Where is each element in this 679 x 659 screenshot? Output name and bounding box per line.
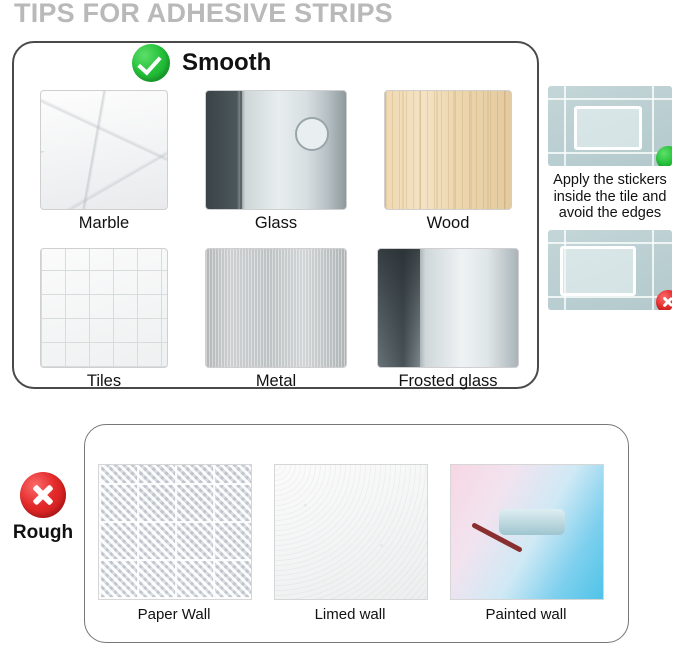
surface-item-metal: Metal: [190, 248, 362, 388]
marble-texture-image: [40, 90, 168, 210]
surface-caption: Paper Wall: [98, 606, 250, 623]
surface-caption: Glass: [190, 214, 362, 233]
surface-caption: Marble: [18, 214, 190, 233]
surface-item-paper-wall: Paper Wall: [98, 464, 250, 623]
patterned-wallpaper-texture-image: [98, 464, 252, 600]
surface-caption: Limed wall: [274, 606, 426, 623]
surface-item-tiles: Tiles: [18, 248, 190, 388]
frosted-glass-photo-image: [377, 248, 519, 368]
placement-caption-line3: avoid the edges: [548, 205, 672, 222]
x-circle-icon: [20, 472, 66, 518]
surface-caption: Frosted glass: [362, 372, 534, 391]
check-circle-icon: [656, 146, 672, 166]
surface-caption: Tiles: [18, 372, 190, 391]
surface-item-frosted-glass: Frosted glass: [362, 248, 534, 388]
surface-caption: Metal: [190, 372, 362, 391]
sticker-outline: [574, 106, 642, 150]
placement-caption-line1: Apply the stickers: [548, 172, 672, 189]
rough-surface-grid: Paper Wall Limed wall Painted wall: [98, 464, 602, 623]
roller-handle-shape: [471, 522, 523, 553]
check-circle-icon: [132, 44, 170, 82]
tile-grid-texture-image: [40, 248, 168, 368]
surface-item-wood: Wood: [362, 90, 534, 230]
smooth-label: Smooth: [182, 49, 271, 77]
placement-correct-image: [548, 86, 672, 166]
limewash-stucco-texture-image: [274, 464, 428, 600]
surface-caption: Painted wall: [450, 606, 602, 623]
surface-item-limed-wall: Limed wall: [274, 464, 426, 623]
wood-grain-texture-image: [384, 90, 512, 210]
surface-item-painted-wall: Painted wall: [450, 464, 602, 623]
page-title: TIPS FOR ADHESIVE STRIPS: [14, 0, 393, 29]
surface-caption: Wood: [362, 214, 534, 233]
placement-wrong-image: [548, 230, 672, 310]
sticker-outline: [560, 246, 636, 296]
glass-shower-photo-image: [205, 90, 347, 210]
paint-roller-photo-image: [450, 464, 604, 600]
rough-label: Rough: [7, 522, 79, 544]
placement-caption: Apply the stickers inside the tile and a…: [548, 172, 672, 222]
smooth-surface-grid: Marble Glass Wood Tiles Metal Frosted gl…: [18, 90, 534, 388]
surface-item-glass: Glass: [190, 90, 362, 230]
placement-caption-line2: inside the tile and: [548, 189, 672, 206]
placement-guide: Apply the stickers inside the tile and a…: [548, 86, 672, 310]
smooth-header: Smooth: [132, 44, 271, 82]
x-circle-icon: [656, 290, 672, 310]
brushed-metal-texture-image: [205, 248, 347, 368]
rough-header: Rough: [7, 472, 79, 544]
surface-item-marble: Marble: [18, 90, 190, 230]
